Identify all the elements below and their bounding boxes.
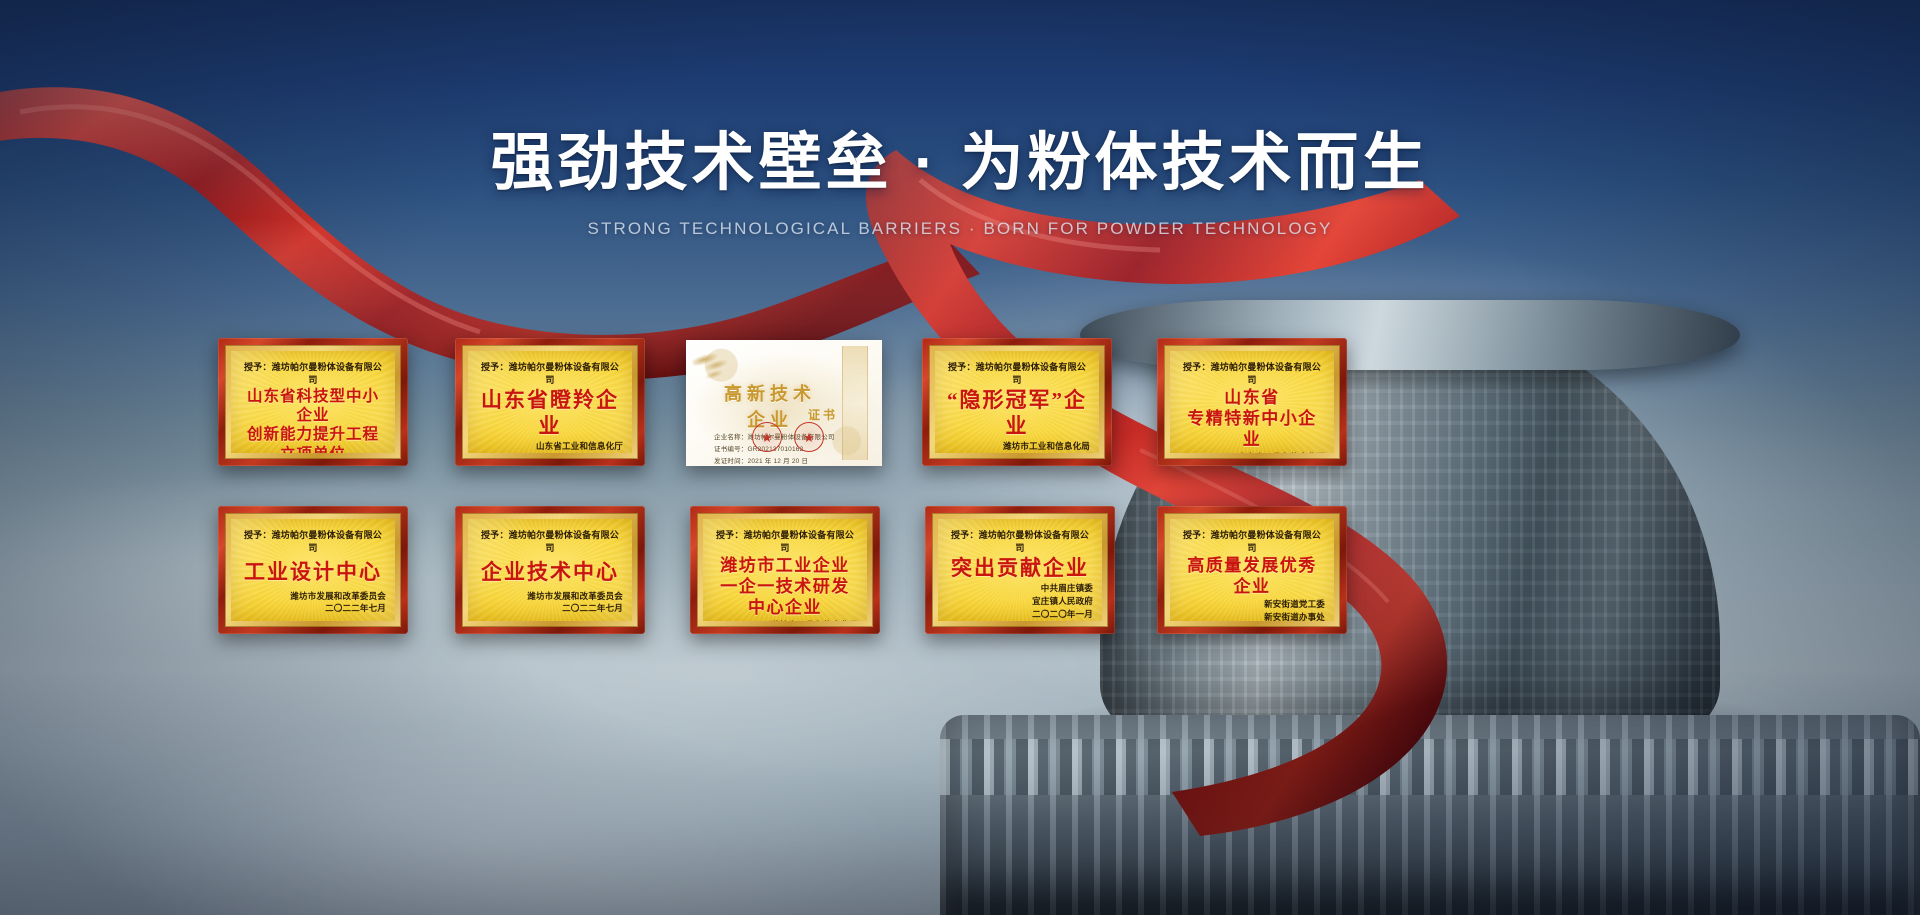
- plaque-plate: 授予：潍坊帕尔曼粉体设备有限公司 高质量发展优秀企业 新安街道党工委 新安街道办…: [1170, 519, 1334, 621]
- plaque-issuer: 潍坊市工业和信息化局: [712, 619, 858, 621]
- plaque-inner-frame: 授予：潍坊帕尔曼粉体设备有限公司 高质量发展优秀企业 新安街道党工委 新安街道办…: [1164, 513, 1340, 627]
- plaque-issuer: 中共眉庄镇委 宜庄镇人民政府: [947, 582, 1093, 608]
- plaque-title: 工业设计中心: [240, 554, 386, 590]
- red-seal-icon: ★: [752, 422, 782, 452]
- certificate-subtitle: 证书: [808, 406, 838, 423]
- plaque-frame: 授予：潍坊帕尔曼粉体设备有限公司 企业技术中心 潍坊市发展和改革委员会 二〇二二…: [455, 506, 645, 634]
- plaque-plate: 授予：潍坊帕尔曼粉体设备有限公司 突出贡献企业 中共眉庄镇委 宜庄镇人民政府 二…: [938, 519, 1102, 621]
- award-plaque[interactable]: 授予：潍坊帕尔曼粉体设备有限公司 潍坊市工业企业 一企一技术研发中心企业 潍坊市…: [690, 506, 880, 634]
- plaque-title-line: 山东省科技型中小企业: [240, 387, 386, 425]
- plaque-title: 山东省瞪羚企业: [477, 386, 623, 440]
- plaque-inner-frame: 授予：潍坊帕尔曼粉体设备有限公司 突出贡献企业 中共眉庄镇委 宜庄镇人民政府 二…: [932, 513, 1108, 627]
- plaque-grantee: 授予：潍坊帕尔曼粉体设备有限公司: [477, 360, 623, 386]
- award-plaque[interactable]: 授予：潍坊帕尔曼粉体设备有限公司 企业技术中心 潍坊市发展和改革委员会 二〇二二…: [455, 506, 645, 634]
- page-subtitle: STRONG TECHNOLOGICAL BARRIERS · BORN FOR…: [0, 219, 1920, 239]
- plaque-grantee: 授予：潍坊帕尔曼粉体设备有限公司: [712, 528, 858, 554]
- plaque-footer: 潍坊市发展和改革委员会 二〇二二年七月: [240, 590, 386, 616]
- plaque-frame: 授予：潍坊帕尔曼粉体设备有限公司 “隐形冠军”企业 潍坊市工业和信息化局 二〇二…: [922, 338, 1112, 466]
- headline-block: 强劲技术壁垒 · 为粉体技术而生 STRONG TECHNOLOGICAL BA…: [0, 128, 1920, 239]
- plaque-inner-frame: 授予：潍坊帕尔曼粉体设备有限公司 山东省瞪羚企业 山东省工业和信息化厅 二〇二三…: [462, 345, 638, 459]
- plaque-title-line: 工业设计中心: [244, 559, 382, 585]
- plaque-footer: 山东省工业和信息化厅: [1179, 451, 1325, 453]
- plaque-grantee: 授予：潍坊帕尔曼粉体设备有限公司: [477, 528, 623, 554]
- award-plaque[interactable]: 授予：潍坊帕尔曼粉体设备有限公司 山东省 专精特新中小企业 山东省工业和信息化厅: [1157, 338, 1347, 466]
- plaque-frame: 授予：潍坊帕尔曼粉体设备有限公司 山东省 专精特新中小企业 山东省工业和信息化厅: [1157, 338, 1347, 466]
- award-plaque[interactable]: 授予：潍坊帕尔曼粉体设备有限公司 突出贡献企业 中共眉庄镇委 宜庄镇人民政府 二…: [925, 506, 1115, 634]
- plaque-title: 高质量发展优秀企业: [1179, 554, 1325, 598]
- plaque-frame: 授予：潍坊帕尔曼粉体设备有限公司 工业设计中心 潍坊市发展和改革委员会 二〇二二…: [218, 506, 408, 634]
- award-plaque[interactable]: 授予：潍坊帕尔曼粉体设备有限公司 山东省科技型中小企业 创新能力提升工程立项单位…: [218, 338, 408, 466]
- certificate-detail-line: 发证时间：2021 年 12 月 20 日: [714, 456, 835, 466]
- plaque-date: 二〇二二年七月: [240, 602, 386, 615]
- plaque-title-line: 一企一技术研发中心企业: [712, 576, 858, 618]
- plaque-inner-frame: 授予：潍坊帕尔曼粉体设备有限公司 企业技术中心 潍坊市发展和改革委员会 二〇二二…: [462, 513, 638, 627]
- plaque-title-line: 创新能力提升工程立项单位: [240, 425, 386, 453]
- certificate-body: 高新技术企业 证书 企业名称：潍坊帕尔曼粉体设备有限公司 证书编号：GR2021…: [686, 340, 882, 466]
- plaque-issuer: 山东省工业和信息化厅: [477, 440, 623, 453]
- plaque-date: 二〇二〇年一月: [947, 608, 1093, 621]
- plaque-issuer: 潍坊市发展和改革委员会: [240, 590, 386, 603]
- plaque-title-line: 山东省瞪羚企业: [477, 387, 623, 439]
- plaque-grantee: 授予：潍坊帕尔曼粉体设备有限公司: [240, 528, 386, 554]
- plaque-title: 突出贡献企业: [947, 554, 1093, 582]
- plaque-frame: 授予：潍坊帕尔曼粉体设备有限公司 山东省科技型中小企业 创新能力提升工程立项单位…: [218, 338, 408, 466]
- plaque-grantee: 授予：潍坊帕尔曼粉体设备有限公司: [1179, 528, 1325, 554]
- plaque-title: 潍坊市工业企业 一企一技术研发中心企业: [712, 554, 858, 619]
- plaque-footer: 潍坊市工业和信息化局 二〇二二年十一月: [944, 440, 1090, 453]
- plaque-title: 企业技术中心: [477, 554, 623, 590]
- plaque-inner-frame: 授予：潍坊帕尔曼粉体设备有限公司 潍坊市工业企业 一企一技术研发中心企业 潍坊市…: [697, 513, 873, 627]
- plaque-inner-frame: 授予：潍坊帕尔曼粉体设备有限公司 “隐形冠军”企业 潍坊市工业和信息化局 二〇二…: [929, 345, 1105, 459]
- plaque-title-line: 高质量发展优秀企业: [1179, 555, 1325, 597]
- plaque-inner-frame: 授予：潍坊帕尔曼粉体设备有限公司 山东省 专精特新中小企业 山东省工业和信息化厅: [1164, 345, 1340, 459]
- plaque-grantee: 授予：潍坊帕尔曼粉体设备有限公司: [1179, 360, 1325, 386]
- plaque-date: 二〇二二年七月: [477, 602, 623, 615]
- plaque-plate: 授予：潍坊帕尔曼粉体设备有限公司 潍坊市工业企业 一企一技术研发中心企业 潍坊市…: [703, 519, 867, 621]
- plaque-frame: 授予：潍坊帕尔曼粉体设备有限公司 高质量发展优秀企业 新安街道党工委 新安街道办…: [1157, 506, 1347, 634]
- plaque-grantee: 授予：潍坊帕尔曼粉体设备有限公司: [947, 528, 1093, 554]
- plaque-footer: 潍坊市工业和信息化局 二〇二二年九月: [712, 619, 858, 621]
- plaque-frame: 授予：潍坊帕尔曼粉体设备有限公司 突出贡献企业 中共眉庄镇委 宜庄镇人民政府 二…: [925, 506, 1115, 634]
- banner-root: 强劲技术壁垒 · 为粉体技术而生 STRONG TECHNOLOGICAL BA…: [0, 0, 1920, 915]
- plaque-plate: 授予：潍坊帕尔曼粉体设备有限公司 山东省科技型中小企业 创新能力提升工程立项单位…: [231, 351, 395, 453]
- plaque-plate: 授予：潍坊帕尔曼粉体设备有限公司 工业设计中心 潍坊市发展和改革委员会 二〇二二…: [231, 519, 395, 621]
- plaque-title: 山东省科技型中小企业 创新能力提升工程立项单位: [240, 386, 386, 453]
- plaque-title-line: “隐形冠军”企业: [944, 387, 1090, 439]
- plaque-plate: 授予：潍坊帕尔曼粉体设备有限公司 山东省 专精特新中小企业 山东省工业和信息化厅: [1170, 351, 1334, 453]
- award-plaque[interactable]: 授予：潍坊帕尔曼粉体设备有限公司 工业设计中心 潍坊市发展和改革委员会 二〇二二…: [218, 506, 408, 634]
- plaque-footer: 潍坊市发展和改革委员会 二〇二二年七月: [477, 590, 623, 616]
- plaque-frame: 授予：潍坊帕尔曼粉体设备有限公司 潍坊市工业企业 一企一技术研发中心企业 潍坊市…: [690, 506, 880, 634]
- page-title: 强劲技术壁垒 · 为粉体技术而生: [0, 128, 1920, 199]
- high-tech-enterprise-certificate[interactable]: 高新技术企业 证书 企业名称：潍坊帕尔曼粉体设备有限公司 证书编号：GR2021…: [686, 340, 882, 466]
- plaque-issuer: 山东省工业和信息化厅: [1179, 451, 1325, 453]
- plaque-title-line: 山东省: [1224, 387, 1280, 408]
- plaque-plate: 授予：潍坊帕尔曼粉体设备有限公司 山东省瞪羚企业 山东省工业和信息化厅 二〇二三…: [468, 351, 632, 453]
- award-plaque[interactable]: 授予：潍坊帕尔曼粉体设备有限公司 高质量发展优秀企业 新安街道党工委 新安街道办…: [1157, 506, 1347, 634]
- plaque-footer: 山东省工业和信息化厅 二〇二三年七月: [477, 440, 623, 453]
- award-plaque[interactable]: 授予：潍坊帕尔曼粉体设备有限公司 山东省瞪羚企业 山东省工业和信息化厅 二〇二三…: [455, 338, 645, 466]
- red-seal-icon: ★: [794, 422, 824, 452]
- plaque-grantee: 授予：潍坊帕尔曼粉体设备有限公司: [240, 360, 386, 386]
- plaque-plate: 授予：潍坊帕尔曼粉体设备有限公司 企业技术中心 潍坊市发展和改革委员会 二〇二二…: [468, 519, 632, 621]
- plaque-title-line: 企业技术中心: [481, 559, 619, 585]
- plaque-issuer: 新安街道党工委 新安街道办事处: [1179, 598, 1325, 621]
- plaque-plate: 授予：潍坊帕尔曼粉体设备有限公司 “隐形冠军”企业 潍坊市工业和信息化局 二〇二…: [935, 351, 1099, 453]
- plaque-title-line: 专精特新中小企业: [1179, 408, 1325, 450]
- plaque-title: “隐形冠军”企业: [944, 386, 1090, 440]
- plaque-issuer: 潍坊市工业和信息化局: [944, 440, 1090, 453]
- plaque-inner-frame: 授予：潍坊帕尔曼粉体设备有限公司 山东省科技型中小企业 创新能力提升工程立项单位…: [225, 345, 401, 459]
- plaque-inner-frame: 授予：潍坊帕尔曼粉体设备有限公司 工业设计中心 潍坊市发展和改革委员会 二〇二二…: [225, 513, 401, 627]
- plaque-title: 山东省 专精特新中小企业: [1179, 386, 1325, 451]
- plaque-footer: 中共眉庄镇委 宜庄镇人民政府 二〇二〇年一月: [947, 582, 1093, 620]
- plaque-issuer: 潍坊市发展和改革委员会: [477, 590, 623, 603]
- plaque-grantee: 授予：潍坊帕尔曼粉体设备有限公司: [944, 360, 1090, 386]
- plaque-title-line: 潍坊市工业企业: [720, 555, 850, 576]
- plaque-footer: 新安街道党工委 新安街道办事处 二〇二三年二月: [1179, 598, 1325, 621]
- award-plaque[interactable]: 授予：潍坊帕尔曼粉体设备有限公司 “隐形冠军”企业 潍坊市工业和信息化局 二〇二…: [922, 338, 1112, 466]
- certificate-sidebar-band: [842, 346, 868, 460]
- plaque-title-line: 突出贡献企业: [951, 555, 1089, 581]
- plaque-frame: 授予：潍坊帕尔曼粉体设备有限公司 山东省瞪羚企业 山东省工业和信息化厅 二〇二三…: [455, 338, 645, 466]
